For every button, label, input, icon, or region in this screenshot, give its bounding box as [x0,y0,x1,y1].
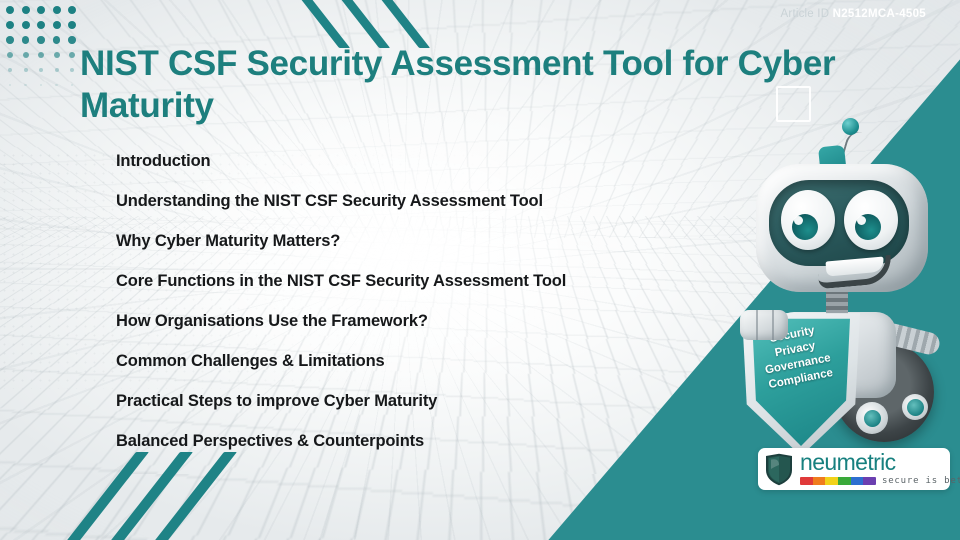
agenda-list: IntroductionUnderstanding the NIST CSF S… [116,141,716,461]
dot-grid-dot [53,21,61,29]
dot-grid-dot [69,52,75,58]
dot-grid-dot [6,36,14,44]
dot-grid-dot [68,36,76,44]
agenda-item: Why Cyber Maturity Matters? [116,221,716,261]
robot-left-hand [740,310,788,340]
dot-grid-dot [68,21,76,29]
dot-grid-dot [24,84,27,87]
logo-tagline: secure is better [882,476,960,486]
decorative-slashes-top [318,0,448,42]
dot-grid-dot [68,6,76,14]
decorative-slashes-bottom [100,460,240,540]
agenda-item: How Organisations Use the Framework? [116,301,716,341]
agenda-item: Understanding the NIST CSF Security Asse… [116,181,716,221]
article-id-label: Article ID [781,8,830,20]
dot-grid-dot [39,68,43,72]
dot-grid-dot [9,84,12,87]
dot-grid-dot [7,52,13,58]
dot-grid-dot [54,52,60,58]
dot-grid-dot [38,52,44,58]
logo-color-bar [800,477,876,485]
logo-bar-segment [825,477,838,485]
neumetric-logo[interactable]: neumetric secure is better [758,448,950,490]
logo-text-group: neumetric secure is better [800,452,960,487]
dot-grid-dot [6,21,14,29]
dot-grid-dot [22,6,30,14]
logo-wordmark: neumetric [800,452,960,474]
dot-grid-dot [23,52,29,58]
logo-bar-segment [851,477,864,485]
dot-grid-dot [40,84,43,87]
robot-pupil-right [855,214,881,240]
agenda-item: Introduction [116,141,716,181]
robot-mascot: SecurityPrivacyGovernanceCompliance [722,106,960,436]
dot-grid-dot [53,36,61,44]
dot-grid-dot [37,36,45,44]
dot-grid-dot [24,68,28,72]
robot-antenna-ball [842,118,859,135]
dot-grid-dot [37,6,45,14]
dot-grid-dot [22,36,30,44]
shield-icon [765,453,793,486]
logo-bar-segment [800,477,813,485]
agenda-item: Core Functions in the NIST CSF Security … [116,261,716,301]
logo-bar-segment [863,477,876,485]
article-id-value: N2512MCA-4505 [833,8,926,20]
decorative-dot-grid [6,6,84,90]
article-id: Article ID N2512MCA-4505 [781,8,926,20]
dot-grid-dot [8,68,12,72]
dot-grid-dot [37,21,45,29]
dot-grid-dot [71,84,74,87]
logo-bar-segment [838,477,851,485]
agenda-item: Balanced Perspectives & Counterpoints [116,421,716,461]
dot-grid-dot [70,68,74,72]
agenda-item: Common Challenges & Limitations [116,341,716,381]
robot-wheel-hub [856,402,888,434]
agenda-item: Practical Steps to improve Cyber Maturit… [116,381,716,421]
dot-grid-dot [53,6,61,14]
robot-wheel-hub [902,394,928,420]
logo-subline: secure is better [800,476,960,486]
dot-grid-dot [6,6,14,14]
dot-grid-dot [55,84,58,87]
dot-grid-dot [55,68,59,72]
dot-grid-dot [22,21,30,29]
robot-pupil-left [792,214,818,240]
slide-canvas: Article ID N2512MCA-4505 NIST CSF Securi… [0,0,960,540]
logo-bar-segment [813,477,826,485]
